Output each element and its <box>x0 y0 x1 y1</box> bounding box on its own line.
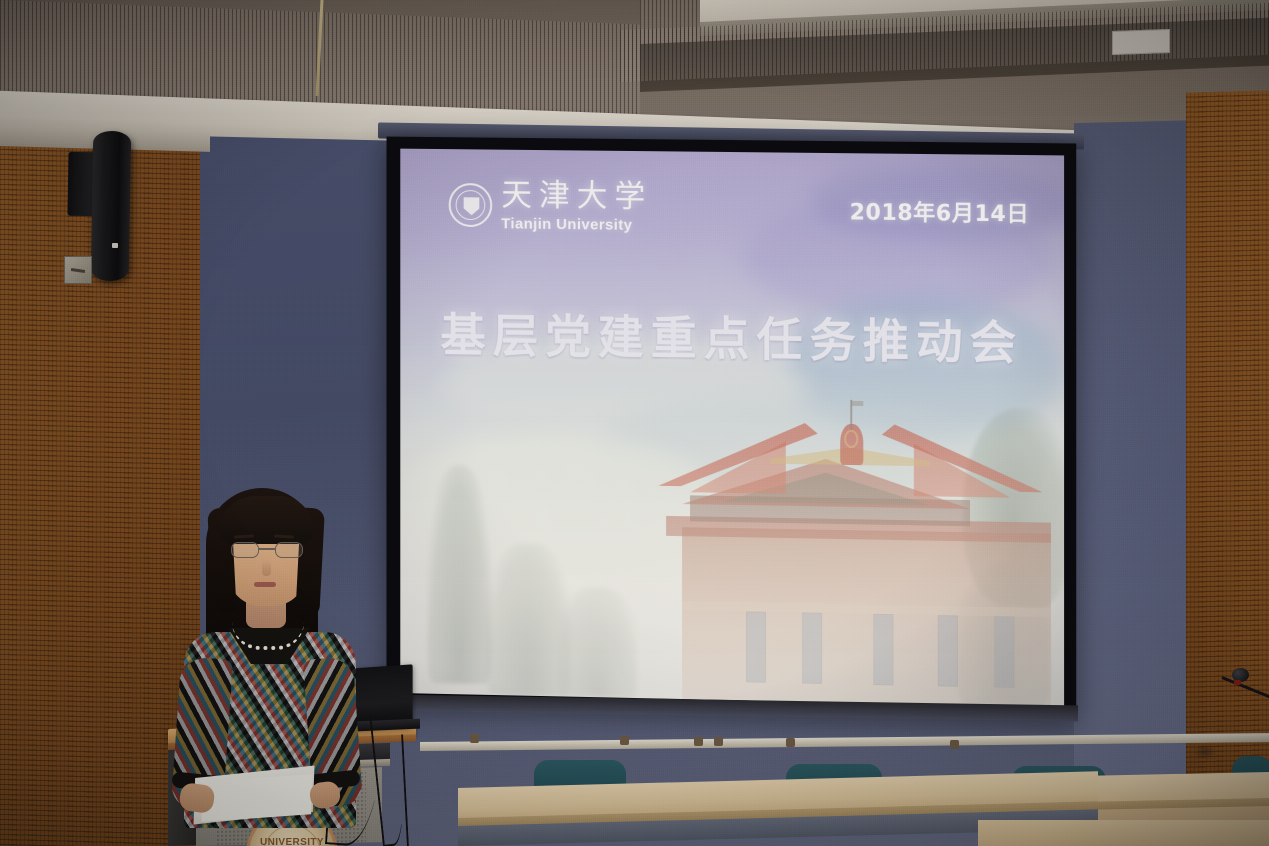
building-window <box>746 612 766 683</box>
wall-hook <box>950 740 959 749</box>
slide-date: 2018年6月14日 <box>850 194 1030 228</box>
logo-text-block: 天津大学 Tianjin University <box>501 180 652 233</box>
building-window <box>994 616 1014 688</box>
building-window <box>938 615 958 687</box>
slide-campus-building <box>650 403 1050 707</box>
wall-hook <box>714 737 723 746</box>
speaker-led-indicator <box>112 243 118 248</box>
slide-tree-tall <box>427 465 493 684</box>
slide-title: 基层党建重点任务推动会 <box>400 298 1064 373</box>
building-cupola-ring <box>844 430 858 448</box>
wall-hook <box>620 736 629 745</box>
glasses-lens-right <box>275 542 303 558</box>
wall-hook <box>470 734 479 743</box>
wall-plate <box>64 256 92 284</box>
projection-screen[interactable]: 天津大学 Tianjin University 2018年6月14日 基层党建重… <box>386 137 1076 718</box>
presenter <box>150 482 380 846</box>
logo-chinese-name: 天津大学 <box>501 180 652 213</box>
wall-wood-acoustic-right <box>1186 90 1269 793</box>
glasses-icon <box>230 542 304 558</box>
presenter-papers-top-sheet <box>201 774 312 822</box>
building-weathervane-icon <box>851 401 863 406</box>
logo-english-name: Tianjin University <box>501 216 652 233</box>
desk-foreground-right[interactable] <box>978 820 1269 846</box>
glasses-lens-left <box>231 542 259 558</box>
glasses-bridge <box>259 548 275 550</box>
boom-microphone-band <box>1234 680 1241 685</box>
building-window <box>802 613 822 685</box>
tianjin-university-seal-icon <box>449 183 493 227</box>
wall-hook <box>786 738 795 747</box>
presentation-slide[interactable]: 天津大学 Tianjin University 2018年6月14日 基层党建重… <box>400 149 1064 707</box>
presenter-nose <box>262 560 271 576</box>
building-window <box>874 614 894 686</box>
wall-speaker-icon <box>91 131 132 282</box>
wall-smudge <box>1194 744 1216 760</box>
wall-hook <box>694 737 703 746</box>
ceiling-equipment-box <box>1112 29 1170 55</box>
lecture-hall-photo: 天津大学 Tianjin University 2018年6月14日 基层党建重… <box>0 0 1269 846</box>
slide-university-logo: 天津大学 Tianjin University <box>449 180 652 233</box>
wall-blue-panel-right <box>1074 120 1204 823</box>
presenter-mouth <box>254 582 276 587</box>
slide-tree-small <box>558 587 637 698</box>
